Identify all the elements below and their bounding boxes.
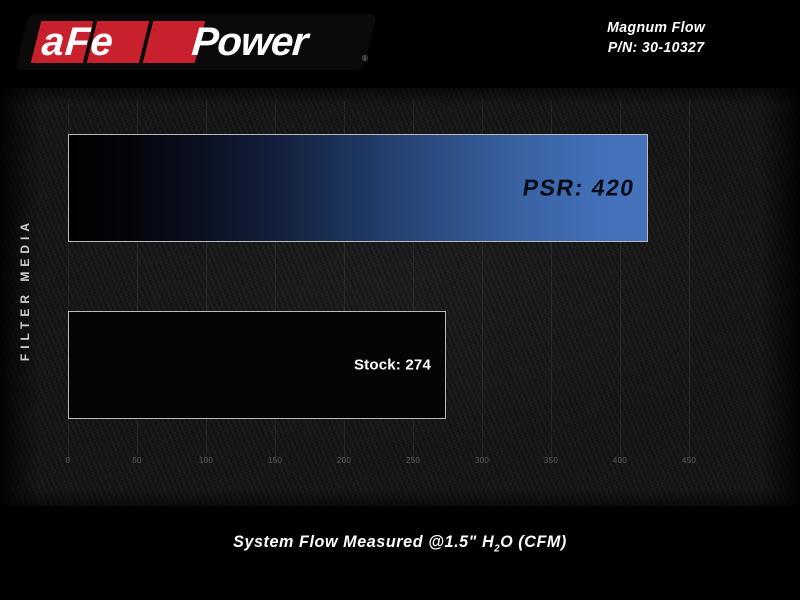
x-tick-100: 100 [199,456,213,465]
registered-trademark-icon: ® [362,54,368,63]
caption-word-measured: Measured [343,532,423,551]
x-tick-50: 50 [132,456,142,465]
x-tick-150: 150 [268,456,282,465]
caption-word-h: H [482,532,494,551]
y-axis-title: FILTER MEDIA [18,218,42,361]
x-tick-400: 400 [613,456,627,465]
logo-power-text: Power [190,20,309,64]
caption-word-pressure: @1.5" [428,532,477,551]
bar-label-stock: Stock: 274 [354,357,431,374]
plot-area: PSR: 420 Stock: 274 [68,100,717,462]
gridline-450 [689,100,690,462]
afe-power-logo: aFe Power ® [22,14,372,72]
bar-stock: Stock: 274 [68,311,446,419]
bar-psr: PSR: 420 [68,134,648,242]
bar-label-psr: PSR: 420 [521,175,637,202]
product-line-title: Magnum Flow [607,18,705,38]
x-tick-0: 0 [66,456,71,465]
product-header: Magnum Flow P/N: 30-10327 [607,18,705,58]
x-tick-350: 350 [544,456,558,465]
caption-word-cfm: (CFM) [518,532,567,551]
x-tick-300: 300 [475,456,489,465]
part-number-label: P/N: 30-10327 [607,38,705,58]
flow-chart-graphic: aFe Power ® Magnum Flow P/N: 30-10327 FI… [0,0,800,600]
x-axis-tick-labels: 0 50 100 150 200 250 300 350 400 450 [68,456,717,472]
caption-word-system: System [233,532,294,551]
logo-afe-text: aFe [40,20,116,64]
x-axis-caption: System Flow Measured @1.5" H2O (CFM) [20,532,780,554]
x-tick-450: 450 [682,456,696,465]
x-tick-250: 250 [406,456,420,465]
x-tick-200: 200 [337,456,351,465]
caption-word-o: O [500,532,513,551]
caption-word-flow: Flow [299,532,338,551]
